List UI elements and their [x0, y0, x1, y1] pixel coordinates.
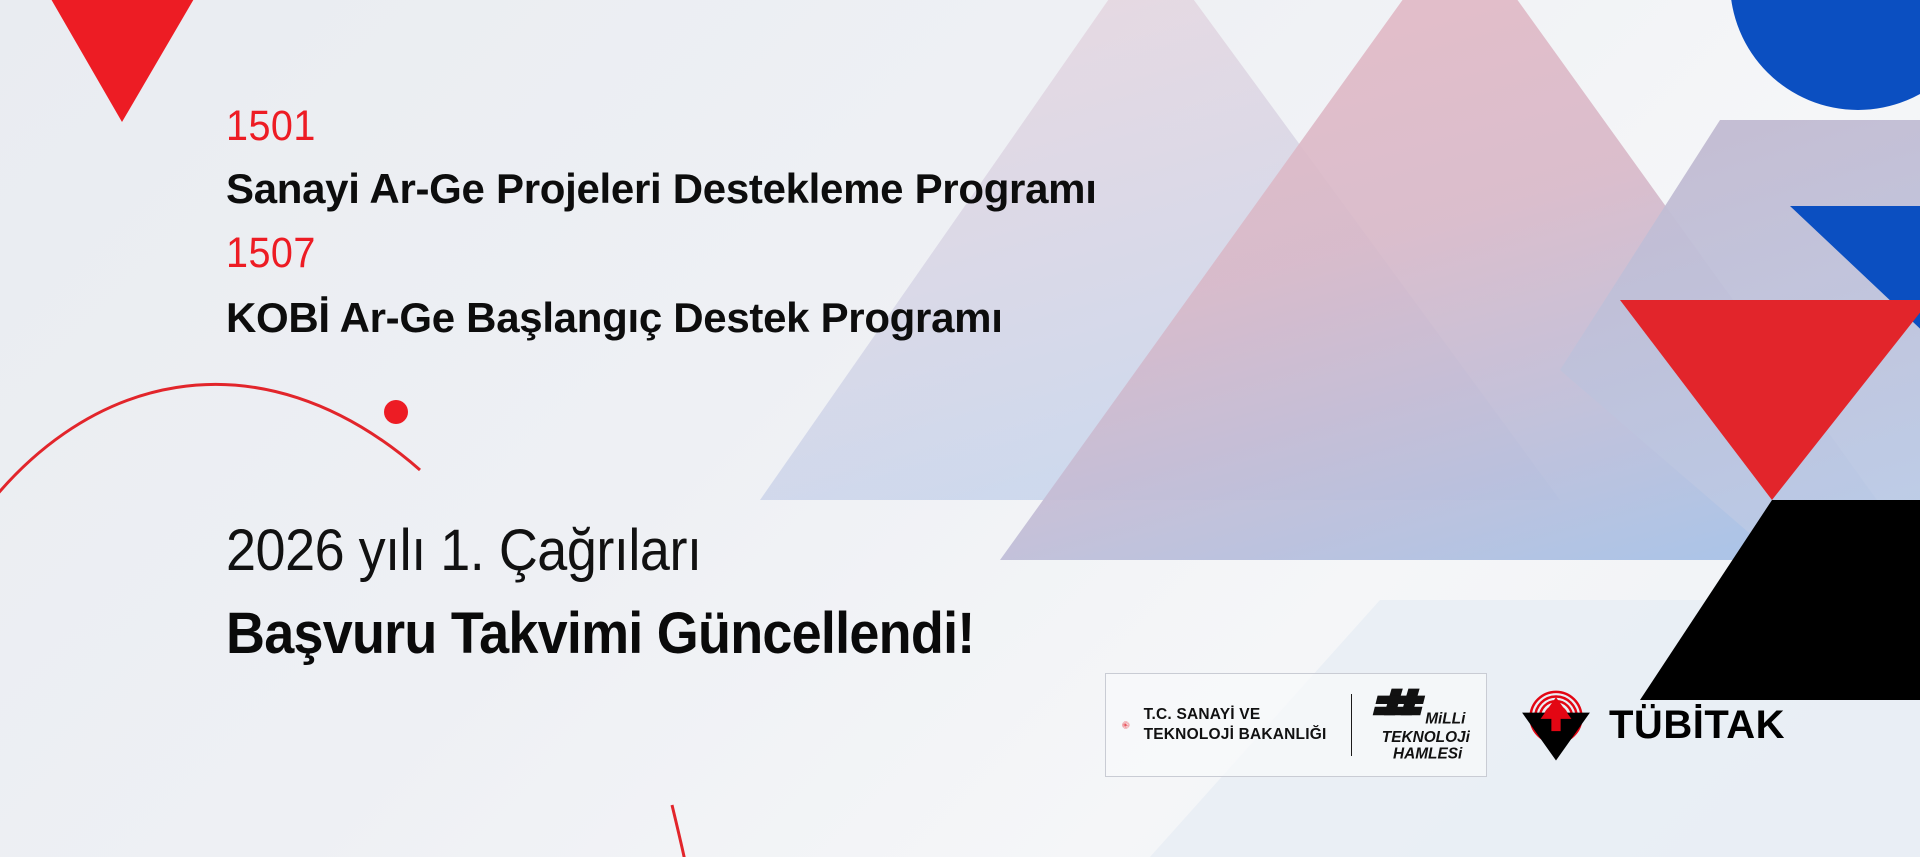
- logo-row: T.C. SANAYİ VE TEKNOLOJİ BAKANLIĞI MiLLi: [1105, 672, 1785, 778]
- program-code-1501: 1501: [226, 105, 316, 148]
- ministry-name-line1: T.C. SANAYİ VE: [1144, 705, 1327, 725]
- headline-announcement: Başvuru Takvimi Güncellendi!: [226, 605, 975, 663]
- program-name-1507: KOBİ Ar-Ge Başlangıç Destek Programı: [226, 297, 1003, 339]
- tubitak-wordmark: TÜBİTAK: [1609, 705, 1785, 745]
- ministry-name: T.C. SANAYİ VE TEKNOLOJİ BAKANLIĞI: [1144, 705, 1327, 745]
- tubitak-logo-block: TÜBİTAK: [1517, 688, 1785, 762]
- svg-text:HAMLESi: HAMLESi: [1393, 746, 1463, 763]
- ministry-logo-block: T.C. SANAYİ VE TEKNOLOJİ BAKANLIĞI MiLLi: [1105, 673, 1487, 777]
- headline-year-call: 2026 yılı 1. Çağrıları: [226, 522, 701, 580]
- tubitak-logo-icon: [1517, 688, 1595, 762]
- promo-banner: 1501 Sanayi Ar-Ge Projeleri Destekleme P…: [0, 0, 1920, 857]
- program-code-1507: 1507: [226, 232, 316, 275]
- tc-ministry-seal-icon: [1122, 688, 1130, 762]
- logo-divider: [1351, 694, 1353, 756]
- ministry-name-line2: TEKNOLOJİ BAKANLIĞI: [1144, 725, 1327, 745]
- svg-text:MiLLi: MiLLi: [1425, 711, 1466, 728]
- svg-text:TEKNOLOJi: TEKNOLOJi: [1382, 729, 1470, 746]
- milli-teknoloji-hamlesi-icon: MiLLi TEKNOLOJi HAMLESi: [1372, 687, 1470, 763]
- milli-teknoloji-hamlesi-logo: MiLLi TEKNOLOJi HAMLESi: [1372, 687, 1470, 763]
- program-name-1501: Sanayi Ar-Ge Projeleri Destekleme Progra…: [226, 168, 1097, 210]
